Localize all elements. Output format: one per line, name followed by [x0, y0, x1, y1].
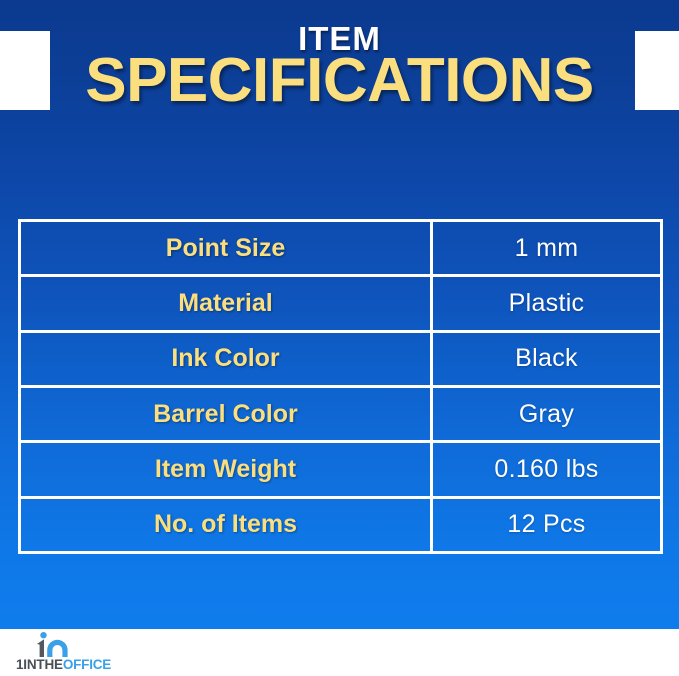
- spec-value: Plastic: [433, 277, 660, 329]
- spec-label: Material: [21, 277, 433, 329]
- spec-value: 0.160 lbs: [433, 443, 660, 495]
- table-row: Item Weight 0.160 lbs: [21, 443, 660, 498]
- page-title-line2: SPECIFICATIONS: [0, 50, 679, 112]
- brand-logo: 1INTHEOFFICE: [16, 632, 136, 676]
- spec-label: Item Weight: [21, 443, 433, 495]
- brand-logo-text: 1INTHEOFFICE: [16, 658, 111, 672]
- spec-value: Gray: [433, 388, 660, 440]
- item-specifications-page: ITEM SPECIFICATIONS Point Size 1 mm Mate…: [0, 0, 679, 676]
- spec-label: Barrel Color: [21, 388, 433, 440]
- footer: 1INTHEOFFICE: [0, 629, 679, 676]
- table-row: Material Plastic: [21, 277, 660, 332]
- brand-logo-text-part2: OFFICE: [63, 657, 111, 672]
- table-row: Barrel Color Gray: [21, 388, 660, 443]
- table-row: Point Size 1 mm: [21, 222, 660, 277]
- spec-value: 12 Pcs: [433, 499, 660, 551]
- table-row: No. of Items 12 Pcs: [21, 499, 660, 551]
- spec-label: Point Size: [21, 222, 433, 274]
- spec-value: Black: [433, 333, 660, 385]
- spec-value: 1 mm: [433, 222, 660, 274]
- header: ITEM SPECIFICATIONS: [0, 0, 679, 140]
- brand-logo-text-part1: 1INTHE: [16, 657, 63, 672]
- table-row: Ink Color Black: [21, 333, 660, 388]
- in-logo-mark-icon: [34, 632, 82, 658]
- spec-label: No. of Items: [21, 499, 433, 551]
- spec-label: Ink Color: [21, 333, 433, 385]
- specifications-table: Point Size 1 mm Material Plastic Ink Col…: [18, 219, 663, 554]
